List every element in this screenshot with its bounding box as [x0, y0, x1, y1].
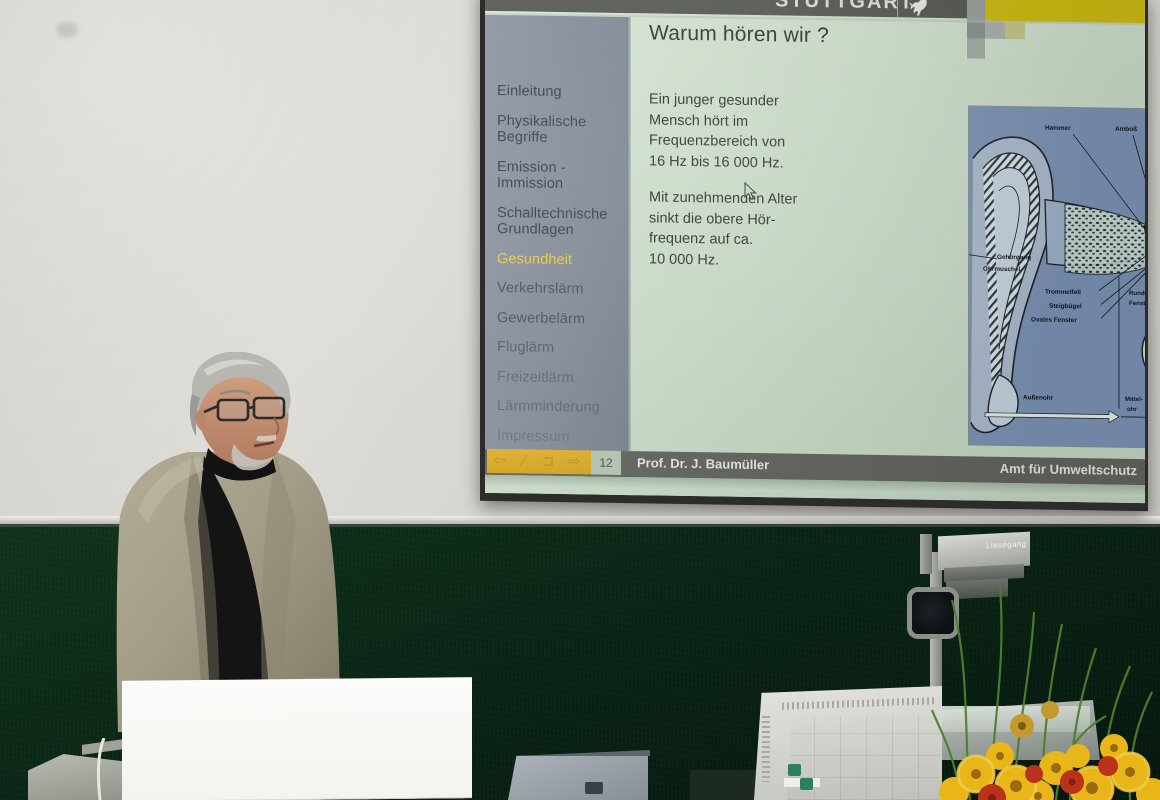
monitor-button-2[interactable]	[800, 778, 813, 790]
body-paragraph-2: Mit zunehmenden Alter sinkt die obere Hö…	[649, 187, 827, 272]
monitor-button-1[interactable]	[788, 764, 801, 776]
lecture-hall-photo: STUTTGART Einleitung	[0, 0, 1160, 800]
wall-smudge	[56, 22, 78, 38]
slide-title: Warum hören wir ?	[649, 21, 829, 48]
header-divider	[897, 0, 898, 17]
page-number: 12	[591, 450, 621, 474]
ear-anatomy-diagram: .lbl{font-family:"Liberation Sans",sans-…	[969, 106, 1145, 449]
rectangle-icon[interactable]: ⊐	[537, 453, 559, 471]
sidebar-item-physikalische-begriffe[interactable]: Physikalische Begriffe	[497, 113, 637, 148]
sidebar-item-verkehrslaerm[interactable]: Verkehrslärm	[497, 280, 637, 299]
svg-text:Mittel-: Mittel-	[1125, 396, 1143, 403]
sidebar-item-list: Einleitung Physikalische Begriffe Emissi…	[497, 83, 637, 459]
footer-nav-buttons: ⇦ ∕ ⊐ ⇨	[487, 449, 591, 475]
sidebar-item-laermminderung[interactable]: Lärmminderung	[497, 398, 637, 417]
lectern-panel	[122, 677, 472, 800]
svg-text:Gehörgang: Gehörgang	[997, 254, 1031, 262]
svg-text:Fenster: Fenster	[1129, 300, 1145, 307]
cable	[96, 738, 106, 800]
forward-arrow-icon[interactable]: ⇨	[563, 453, 585, 471]
footer-office: Amt für Umweltschutz	[1000, 457, 1137, 483]
sidebar-item-gewerbelaerm[interactable]: Gewerbelärm	[497, 310, 637, 329]
header-square-1	[967, 0, 985, 21]
slide-content: Warum hören wir ? Ein junger gesunder Me…	[631, 17, 1145, 459]
rearing-horse-icon	[905, 0, 933, 19]
svg-text:Steigbügel: Steigbügel	[1049, 303, 1082, 311]
city-wordmark: STUTTGART	[775, 0, 914, 15]
sidebar-item-gesundheit[interactable]: Gesundheit	[497, 251, 637, 270]
back-arrow-icon[interactable]: ⇦	[489, 452, 511, 470]
presentation-slide: STUTTGART Einleitung	[485, 0, 1145, 503]
mouse-pointer-icon	[744, 182, 758, 201]
svg-text:Außenohr: Außenohr	[1023, 394, 1054, 401]
svg-text:Ohrmuschel: Ohrmuschel	[983, 266, 1021, 274]
header-accent-block	[983, 0, 1145, 23]
svg-text:Rundes: Rundes	[1129, 290, 1145, 297]
footer-author: Prof. Dr. J. Baumüller	[637, 451, 769, 477]
svg-text:Amboß: Amboß	[1115, 126, 1137, 133]
sidebar-item-einleitung[interactable]: Einleitung	[497, 83, 637, 102]
slide-body-text: Ein junger gesunder Mensch hört im Frequ…	[649, 89, 827, 288]
projection-screen: STUTTGART Einleitung	[485, 0, 1145, 503]
laptop[interactable]	[508, 752, 648, 800]
sidebar-item-impressum[interactable]: Impressum	[497, 428, 637, 447]
sidebar-item-fluglaerm[interactable]: Fluglärm	[497, 339, 637, 358]
svg-text:Hammer: Hammer	[1045, 125, 1071, 132]
sidebar-item-schalltechnische-grundlagen[interactable]: Schalltechnische Grundlagen	[497, 205, 637, 240]
svg-text:Trommelfell: Trommelfell	[1045, 289, 1081, 297]
sidebar-item-freizeitlaerm[interactable]: Freizeitlärm	[497, 369, 637, 388]
body-paragraph-1: Ein junger gesunder Mensch hört im Frequ…	[649, 89, 827, 174]
slide-sidebar-nav: Einleitung Physikalische Begriffe Emissi…	[485, 15, 631, 451]
slash-icon[interactable]: ∕	[513, 452, 535, 470]
sidebar-item-emission-immission[interactable]: Emission - Immission	[497, 159, 637, 194]
monitor-vent-side	[762, 716, 770, 782]
svg-text:Ovales Fenster: Ovales Fenster	[1031, 316, 1077, 324]
speaker-person	[108, 352, 376, 732]
svg-text:ohr: ohr	[1127, 406, 1137, 413]
flower-arrangement	[930, 560, 1160, 800]
laptop-logo	[585, 782, 603, 794]
